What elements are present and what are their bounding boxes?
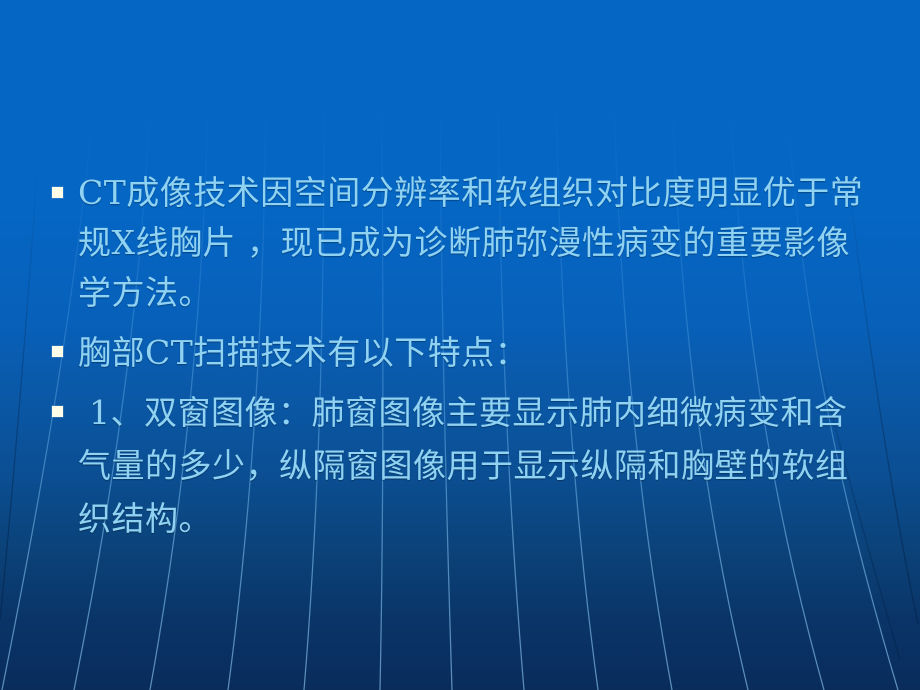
- slide-body: CT成像技术因空间分辨率和软组织对比度明显优于常规X线胸片 ，现已成为诊断肺弥漫…: [52, 168, 872, 551]
- bullet-paragraph-3: 1、双窗图像：肺窗图像主要显示肺内细微病变和含气量的多少，纵隔窗图像用于显示纵隔…: [78, 386, 872, 545]
- square-bullet-icon: [52, 187, 63, 198]
- square-bullet-icon: [52, 406, 63, 417]
- slide-top-band: [0, 0, 920, 120]
- presentation-slide: CT成像技术因空间分辨率和软组织对比度明显优于常规X线胸片 ，现已成为诊断肺弥漫…: [0, 0, 920, 690]
- square-bullet-icon: [52, 346, 63, 357]
- list-item: 胸部CT扫描技术有以下特点：: [52, 328, 872, 378]
- list-item: CT成像技术因空间分辨率和软组织对比度明显优于常规X线胸片 ，现已成为诊断肺弥漫…: [52, 168, 872, 318]
- bullet-paragraph-1: CT成像技术因空间分辨率和软组织对比度明显优于常规X线胸片 ，现已成为诊断肺弥漫…: [78, 168, 872, 318]
- bullet-paragraph-2: 胸部CT扫描技术有以下特点：: [78, 328, 872, 378]
- list-item: 1、双窗图像：肺窗图像主要显示肺内细微病变和含气量的多少，纵隔窗图像用于显示纵隔…: [52, 386, 872, 545]
